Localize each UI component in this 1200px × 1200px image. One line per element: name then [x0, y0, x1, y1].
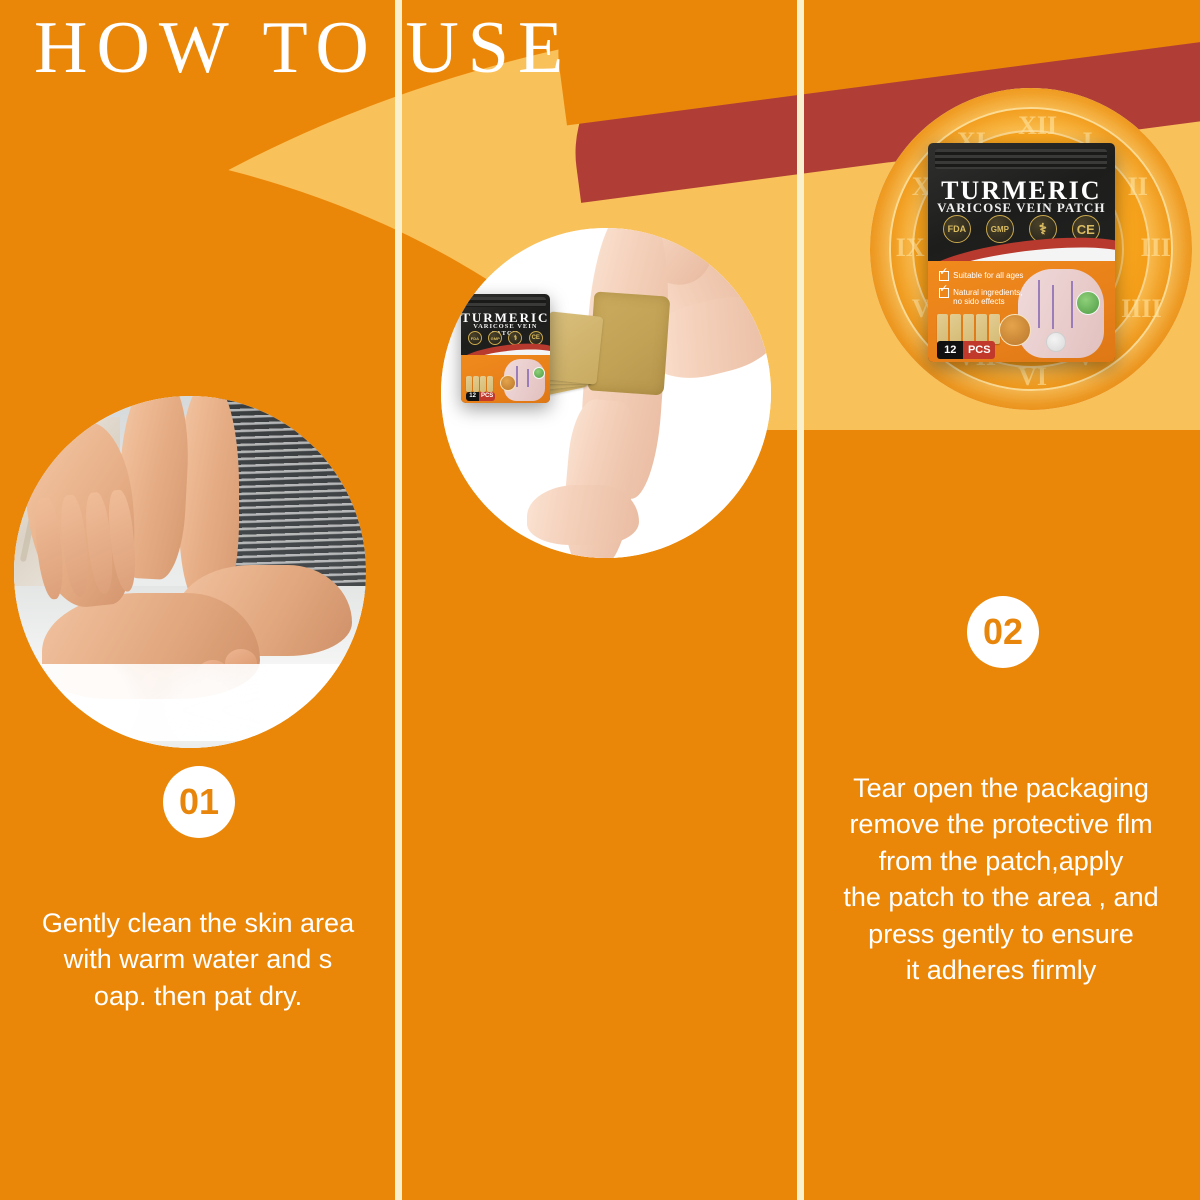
- clock-numeral: XII: [1018, 111, 1057, 141]
- product-package-small: TURMERIC VARICOSE VEIN PATCH FDA GMP ⚕ C…: [461, 294, 550, 403]
- leaf-icon: [533, 367, 545, 379]
- column-divider-1: [395, 0, 402, 1200]
- clock-background: XII I II III IIII V VI VII VIII IX X XI …: [870, 88, 1192, 410]
- package-zip-seal: [935, 149, 1107, 169]
- patch-card: [950, 314, 961, 344]
- legs-scene: TURMERIC VARICOSE VEIN PATCH FDA GMP ⚕ C…: [441, 228, 771, 558]
- step-caption-01: Gently clean the skin area with warm wat…: [12, 905, 384, 1014]
- leaf-icon-small: [1046, 332, 1066, 352]
- vein-line: [527, 369, 529, 388]
- vein-line: [1052, 285, 1054, 329]
- package-feature-2: Natural ingredients, no sido effects: [939, 288, 1022, 306]
- package-count-unit: PCS: [479, 392, 495, 401]
- package-patch-cards: [466, 376, 493, 392]
- patch-card: [963, 314, 974, 344]
- package-count-badge: 12 PCS: [466, 392, 495, 401]
- step-column-2: TURMERIC VARICOSE VEIN PATCH FDA GMP ⚕ C…: [402, 0, 797, 1200]
- vein-line: [1038, 280, 1040, 328]
- water-foam: [14, 664, 366, 741]
- legs-with-patch-photo: TURMERIC VARICOSE VEIN PATCH FDA GMP ⚕ C…: [441, 228, 771, 558]
- package-patch-cards: [937, 314, 1000, 344]
- step-number-badge-01: 01: [163, 766, 235, 838]
- package-on-clock-photo: XII I II III IIII V VI VII VIII IX X XI …: [870, 88, 1192, 410]
- step-column-3: XII I II III IIII V VI VII VIII IX X XI …: [804, 0, 1200, 1200]
- package-count-number: 12: [466, 392, 479, 401]
- package-photo-area: 12 PCS: [461, 355, 550, 403]
- package-zip-seal: [464, 297, 546, 307]
- clock-numeral: IX: [896, 233, 925, 263]
- step-column-1: 01 Gently clean the skin area with warm …: [0, 0, 395, 1200]
- column-divider-2: [797, 0, 804, 1200]
- product-package-large: TURMERIC VARICOSE VEIN PATCH FDA GMP ⚕ C…: [928, 143, 1115, 362]
- package-feature-1-label: Suitable for all ages: [953, 271, 1023, 280]
- how-to-use-infographic: HOW TO USE: [0, 0, 1200, 1200]
- package-count-number: 12: [937, 341, 963, 359]
- package-count-unit: PCS: [963, 341, 995, 359]
- shower-scene: [14, 396, 366, 748]
- page-title: HOW TO USE: [34, 8, 572, 89]
- fda-badge-icon: FDA: [468, 331, 482, 345]
- package-feature-2-label: Natural ingredients, no sido effects: [953, 288, 1022, 306]
- patch-card: [473, 376, 479, 392]
- patch-card: [937, 314, 948, 344]
- package-feature-1: Suitable for all ages: [939, 271, 1023, 281]
- patch-card: [976, 314, 987, 344]
- package-photo-area: Suitable for all ages Natural ingredient…: [928, 261, 1115, 362]
- clock-numeral: VI: [1018, 362, 1047, 392]
- vein-line: [1071, 281, 1073, 327]
- patch-card: [466, 376, 472, 392]
- checkbox-icon: [939, 288, 949, 298]
- certification-badges: FDA GMP ⚕ CE: [468, 332, 543, 344]
- clock-numeral: IIII: [1121, 294, 1161, 324]
- package-count-badge: 12 PCS: [937, 341, 995, 359]
- checkbox-icon: [939, 271, 949, 281]
- patch-card: [487, 376, 493, 392]
- gmp-badge-icon: GMP: [986, 215, 1014, 243]
- fda-badge-icon: FDA: [943, 215, 971, 243]
- patch-card: [480, 376, 486, 392]
- gmp-badge-icon: GMP: [488, 331, 502, 345]
- package-subtitle: VARICOSE VEIN PATCH: [928, 200, 1115, 216]
- turmeric-root-icon: [999, 314, 1031, 346]
- clock-numeral: II: [1128, 172, 1148, 202]
- feet-in-shower-photo: [14, 396, 366, 748]
- foot: [527, 485, 639, 544]
- vein-line: [516, 366, 518, 386]
- patch-sheet: [543, 311, 604, 384]
- leaf-icon: [1076, 291, 1100, 315]
- clock-numeral: III: [1140, 233, 1170, 263]
